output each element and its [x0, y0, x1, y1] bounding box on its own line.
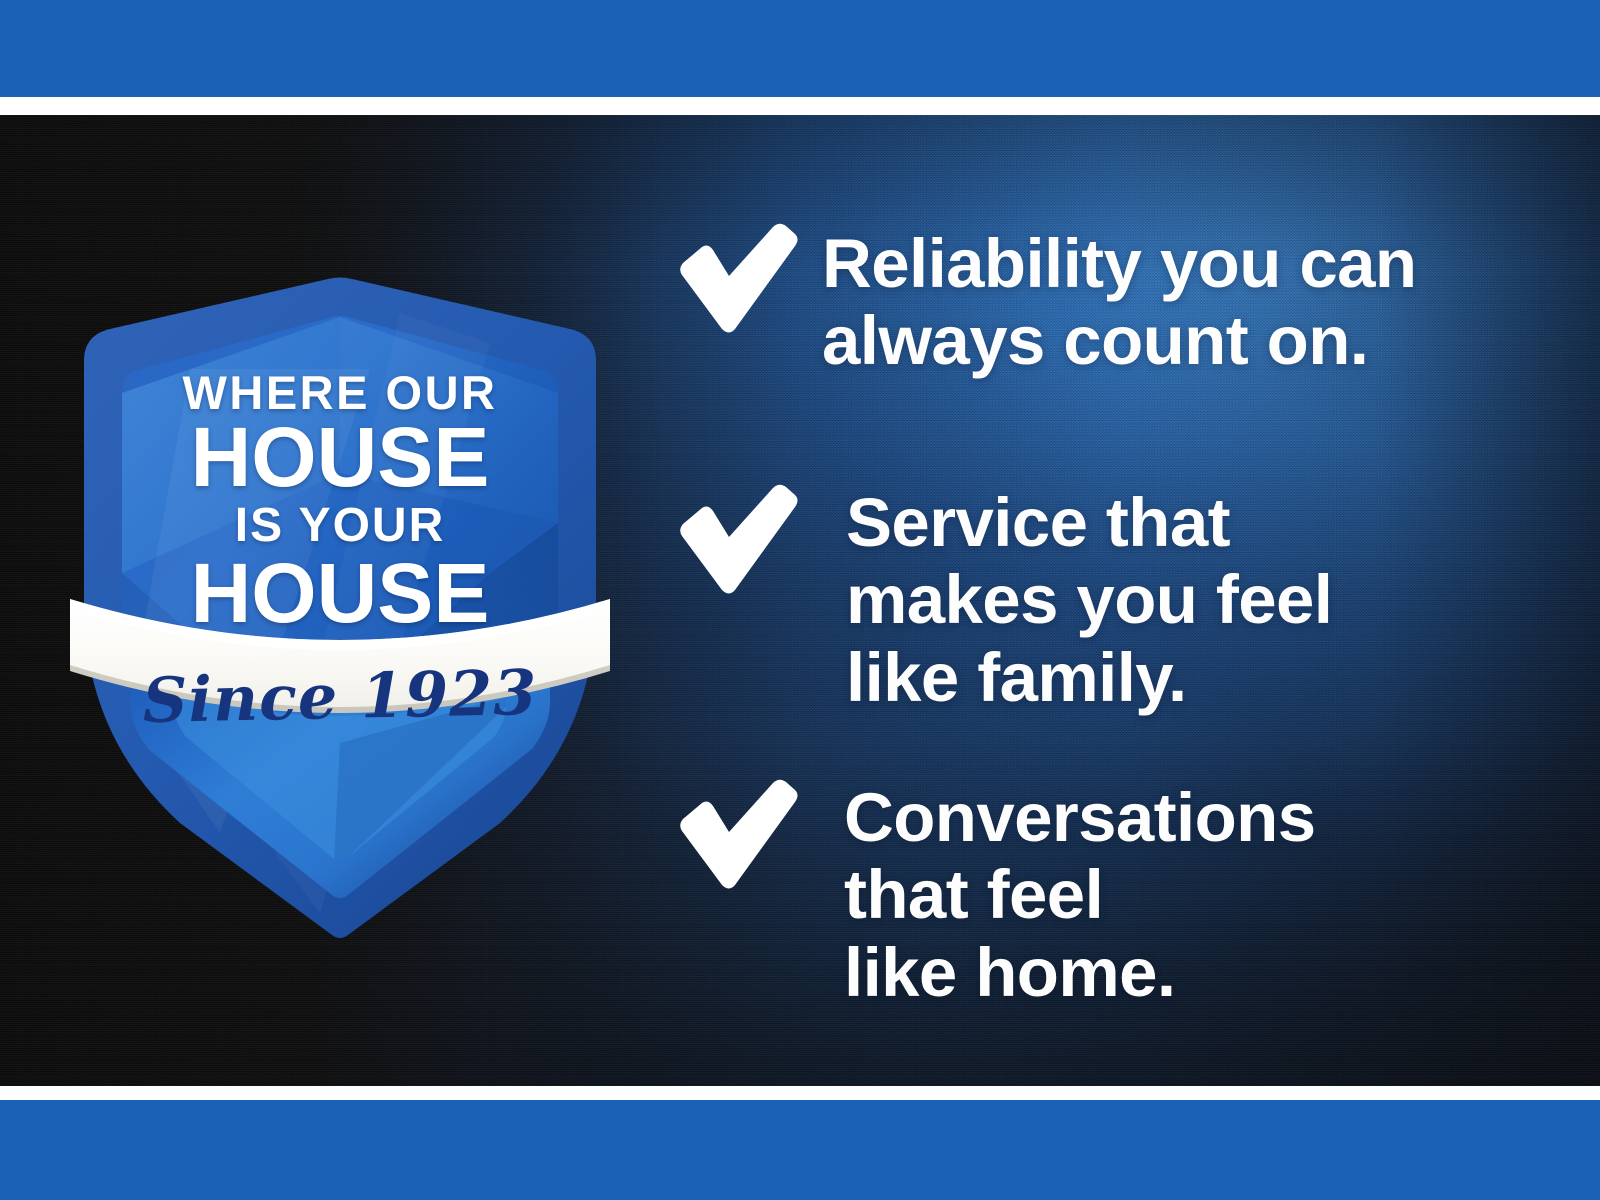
- checkmark-icon: [672, 775, 800, 893]
- list-item-label: Reliability you can always count on.: [822, 219, 1416, 380]
- list-item: Conversations that feel like home.: [672, 775, 1316, 1011]
- list-item-label: Service that makes you feel like family.: [846, 480, 1332, 716]
- checkmark-icon: [672, 219, 800, 337]
- top-brand-bar: [0, 0, 1600, 97]
- list-item-label: Conversations that feel like home.: [844, 775, 1316, 1011]
- list-item: Reliability you can always count on.: [672, 219, 1416, 380]
- checkmark-icon: [672, 480, 800, 598]
- benefits-list: Reliability you can always count on. Ser…: [0, 115, 1600, 1086]
- list-item: Service that makes you feel like family.: [672, 480, 1332, 716]
- bottom-brand-bar: [0, 1100, 1600, 1200]
- main-canvas: WHERE OUR HOUSE IS YOUR HOUSE Since 1923…: [0, 115, 1600, 1086]
- promo-graphic: WHERE OUR HOUSE IS YOUR HOUSE Since 1923…: [0, 0, 1600, 1200]
